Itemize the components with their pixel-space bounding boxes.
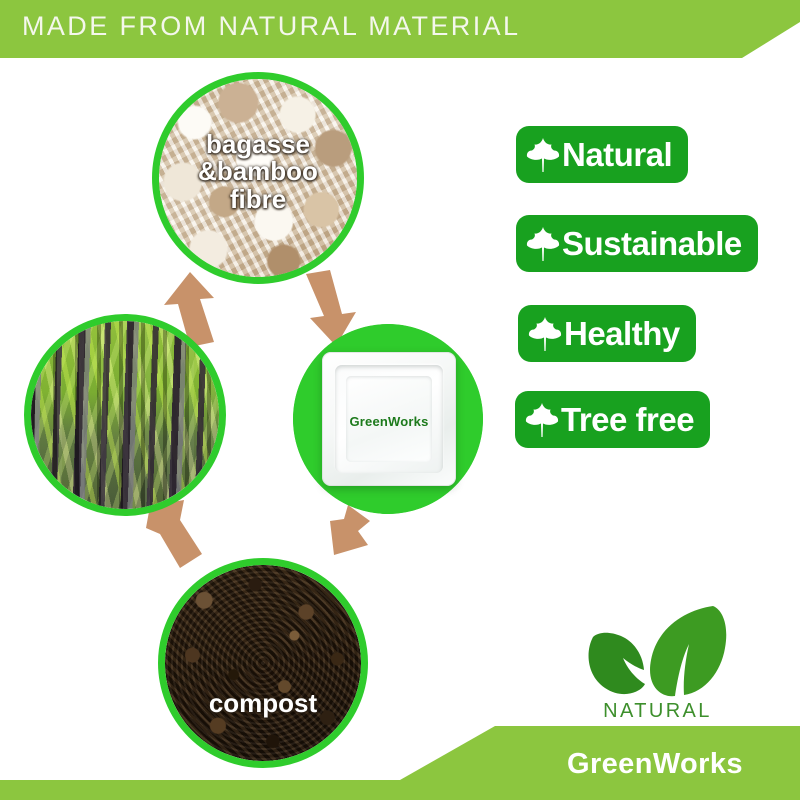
feature-badge-tree-free[interactable]: Tree free	[515, 391, 710, 448]
bagasse-label: bagasse &bamboo fibre	[159, 131, 357, 213]
badge-label: Healthy	[564, 317, 680, 350]
sugarcane-texture	[31, 321, 219, 509]
infographic-canvas: MADE FROM NATURAL MATERIAL bagasse &bamb…	[0, 0, 800, 800]
compost-texture	[165, 565, 361, 761]
logo-caption: NATURAL	[565, 700, 750, 723]
feature-badge-healthy[interactable]: Healthy	[518, 305, 696, 362]
badge-label: Natural	[562, 138, 672, 171]
cycle-node-compost: compost	[158, 558, 368, 768]
footer-brand: GreenWorks	[567, 748, 743, 781]
product-plate: GreenWorks	[322, 352, 456, 486]
feature-badge-sustainable[interactable]: Sustainable	[516, 215, 758, 272]
feature-badge-natural[interactable]: Natural	[516, 126, 688, 183]
leaf-icon	[528, 316, 562, 352]
leaf-icon	[526, 137, 560, 173]
brand-logo: NATURAL	[565, 600, 750, 730]
page-title: MADE FROM NATURAL MATERIAL	[22, 11, 520, 42]
badge-label: Tree free	[561, 403, 694, 436]
cycle-node-bagasse: bagasse &bamboo fibre	[152, 72, 364, 284]
compost-label: compost	[165, 690, 361, 717]
two-leaves-icon	[565, 600, 750, 705]
cycle-node-sugarcane	[24, 314, 226, 516]
plate-brand-label: GreenWorks	[322, 414, 456, 429]
arrow-plate-to-compost	[300, 505, 372, 577]
leaf-icon	[525, 402, 559, 438]
badge-label: Sustainable	[562, 227, 742, 260]
leaf-icon	[526, 226, 560, 262]
